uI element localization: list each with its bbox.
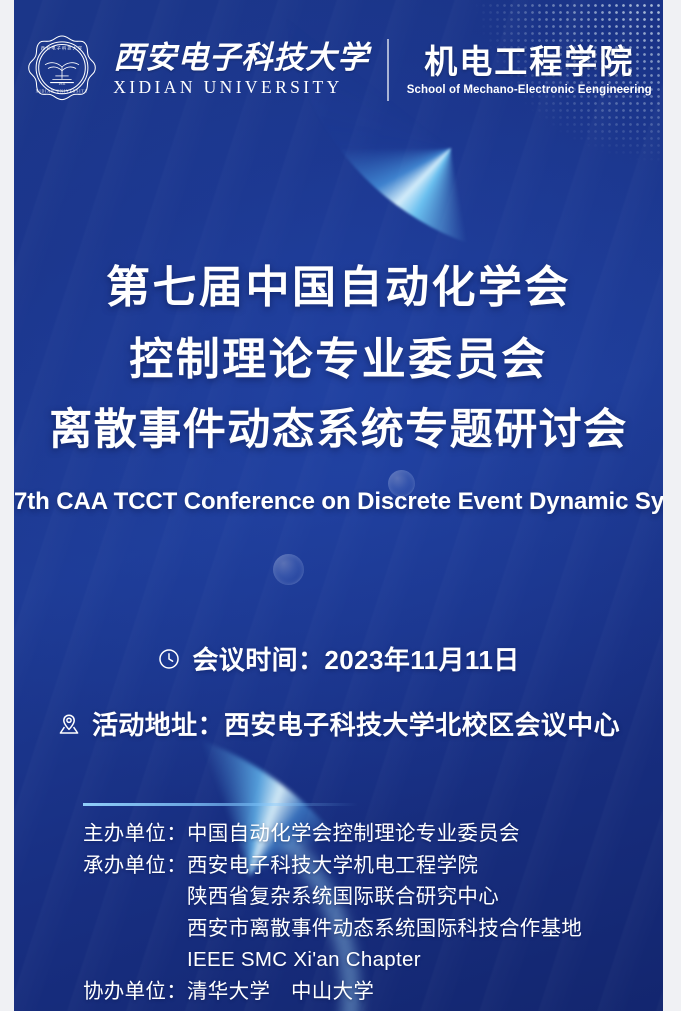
organizers-divider (83, 803, 358, 806)
svg-text:1931: 1931 (59, 82, 67, 86)
clock-icon (157, 647, 181, 671)
organizer-line: 主办单位：西安市离散事件动态系统国际科技合作基地 (83, 913, 663, 945)
school-name-en: School of Mechano-Electronic Eengineerin… (407, 84, 652, 96)
xidian-university-crest-icon: 1931 西安电子科技大学 XIDIAN UNIVERSITY (25, 33, 99, 107)
organizer-line: 主办单位：IEEE SMC Xi'an Chapter (83, 944, 663, 976)
organizer-label: 协办单位： (83, 976, 187, 1008)
title-line-1: 第七届中国自动化学会 (14, 252, 663, 324)
header-logo-bar: 1931 西安电子科技大学 XIDIAN UNIVERSITY 西安电子科技大学… (14, 24, 663, 116)
organizer-line: 主办单位：中国自动化学会控制理论专业委员会 (83, 818, 663, 850)
poster-title-block: 第七届中国自动化学会 控制理论专业委员会 离散事件动态系统专题研讨会 7th C… (14, 252, 663, 516)
organizer-value: 西安市离散事件动态系统国际科技合作基地 (187, 913, 582, 945)
organizer-value: 陕西省复杂系统国际联合研究中心 (187, 881, 499, 913)
page-root: 1931 西安电子科技大学 XIDIAN UNIVERSITY 西安电子科技大学… (0, 0, 681, 1011)
organizer-label: 承办单位： (83, 850, 187, 882)
organizer-line: 承办单位：西安电子科技大学机电工程学院 (83, 850, 663, 882)
conference-poster: 1931 西安电子科技大学 XIDIAN UNIVERSITY 西安电子科技大学… (14, 0, 663, 1011)
organizer-label: 主办单位： (83, 818, 187, 850)
university-name-group: 西安电子科技大学 XIDIAN UNIVERSITY (113, 42, 369, 99)
logo-divider (387, 39, 389, 101)
organizer-value: 中国自动化学会控制理论专业委员会 (187, 818, 520, 850)
svg-text:西安电子科技大学: 西安电子科技大学 (41, 44, 83, 50)
school-name-cn: 机电工程学院 (424, 44, 634, 80)
meta-row-location: 活动地址：西安电子科技大学北校区会议中心 (14, 705, 663, 742)
university-name-cn: 西安电子科技大学 (113, 42, 369, 75)
map-pin-icon (57, 712, 81, 736)
meta-info-block: 会议时间：2023年11月11日 活动地址：西安电子科技大学北校区会议中心 (14, 640, 663, 770)
meta-time-text: 会议时间：2023年11月11日 (192, 640, 519, 677)
svg-text:XIDIAN UNIVERSITY: XIDIAN UNIVERSITY (36, 90, 89, 94)
bubble-decoration-icon (273, 554, 304, 585)
school-name-group: 机电工程学院 School of Mechano-Electronic Eeng… (407, 44, 652, 96)
organizer-value: 清华大学 中山大学 (187, 976, 374, 1008)
organizers-block: 主办单位：中国自动化学会控制理论专业委员会承办单位：西安电子科技大学机电工程学院… (83, 818, 663, 1007)
title-subtitle-en: 7th CAA TCCT Conference on Discrete Even… (14, 488, 663, 516)
organizer-line: 主办单位：陕西省复杂系统国际联合研究中心 (83, 881, 663, 913)
meta-location-text: 活动地址：西安电子科技大学北校区会议中心 (92, 705, 620, 742)
organizer-line: 协办单位：清华大学 中山大学 (83, 976, 663, 1008)
university-name-en: XIDIAN UNIVERSITY (113, 77, 342, 98)
title-line-2: 控制理论专业委员会 (14, 324, 663, 396)
organizer-value: IEEE SMC Xi'an Chapter (187, 944, 421, 976)
title-line-3: 离散事件动态系统专题研讨会 (14, 395, 663, 465)
organizer-value: 西安电子科技大学机电工程学院 (187, 850, 478, 882)
meta-row-time: 会议时间：2023年11月11日 (14, 640, 663, 677)
